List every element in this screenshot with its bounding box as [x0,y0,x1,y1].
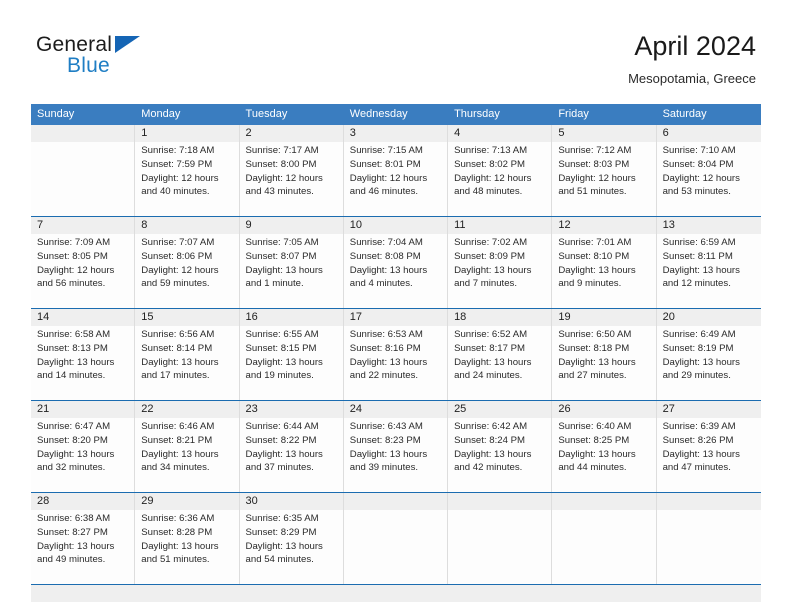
sunrise-time-text: Sunrise: 7:17 AM [246,144,338,158]
day-number-cell[interactable]: 22 [135,401,239,418]
day-cell[interactable]: Sunrise: 6:44 AMSunset: 8:22 PMDaylight:… [240,418,344,492]
day-cell-empty [344,510,448,584]
day-cell[interactable]: Sunrise: 6:39 AMSunset: 8:26 PMDaylight:… [657,418,761,492]
day-number-cell[interactable]: 20 [657,309,761,326]
day-number-cell[interactable]: 1 [135,125,239,142]
sunrise-time-text: Sunrise: 7:13 AM [454,144,546,158]
sunrise-time-text: Sunrise: 6:53 AM [350,328,442,342]
daylight-duration-line1: Daylight: 13 hours [350,264,442,278]
daylight-duration-line1: Daylight: 13 hours [37,356,129,370]
daylight-duration-line2: and 39 minutes. [350,461,442,475]
sunrise-time-text: Sunrise: 7:07 AM [141,236,233,250]
day-cell[interactable]: Sunrise: 6:40 AMSunset: 8:25 PMDaylight:… [552,418,656,492]
day-cell[interactable]: Sunrise: 6:47 AMSunset: 8:20 PMDaylight:… [31,418,135,492]
sunset-time-text: Sunset: 8:01 PM [350,158,442,172]
daylight-duration-line1: Daylight: 13 hours [37,448,129,462]
daylight-duration-line1: Daylight: 13 hours [454,264,546,278]
day-of-week-header-wednesday: Wednesday [344,104,448,125]
daylight-duration-line2: and 59 minutes. [141,277,233,291]
day-number-cell[interactable]: 6 [657,125,761,142]
day-of-week-header-thursday: Thursday [448,104,552,125]
day-cell[interactable]: Sunrise: 6:35 AMSunset: 8:29 PMDaylight:… [240,510,344,584]
page-header: General Blue April 2024 Mesopotamia, Gre… [0,0,792,104]
sunset-time-text: Sunset: 8:00 PM [246,158,338,172]
day-number-cell[interactable]: 13 [657,217,761,234]
day-of-week-header-tuesday: Tuesday [240,104,344,125]
day-number-cell[interactable]: 29 [135,493,239,510]
week-day-detail-band: Sunrise: 7:09 AMSunset: 8:05 PMDaylight:… [31,234,761,308]
daylight-duration-line1: Daylight: 12 hours [454,172,546,186]
daylight-duration-line1: Daylight: 13 hours [663,264,756,278]
daylight-duration-line1: Daylight: 12 hours [558,172,650,186]
daylight-duration-line2: and 42 minutes. [454,461,546,475]
day-cell[interactable]: Sunrise: 6:50 AMSunset: 8:18 PMDaylight:… [552,326,656,400]
brand-name-blue: Blue [67,54,110,78]
daylight-duration-line2: and 1 minute. [246,277,338,291]
day-number-cell[interactable]: 19 [552,309,656,326]
sunset-time-text: Sunset: 8:06 PM [141,250,233,264]
sunrise-time-text: Sunrise: 7:05 AM [246,236,338,250]
day-number-cell[interactable]: 11 [448,217,552,234]
daylight-duration-line1: Daylight: 13 hours [141,356,233,370]
calendar-grid: SundayMondayTuesdayWednesdayThursdayFrid… [31,104,761,602]
daylight-duration-line2: and 27 minutes. [558,369,650,383]
daylight-duration-line1: Daylight: 13 hours [350,448,442,462]
daylight-duration-line1: Daylight: 12 hours [141,264,233,278]
sunrise-time-text: Sunrise: 6:58 AM [37,328,129,342]
day-cell[interactable]: Sunrise: 6:58 AMSunset: 8:13 PMDaylight:… [31,326,135,400]
triangle-flag-icon [115,36,140,53]
sunrise-time-text: Sunrise: 6:52 AM [454,328,546,342]
sunset-time-text: Sunset: 8:09 PM [454,250,546,264]
sunset-time-text: Sunset: 8:22 PM [246,434,338,448]
sunset-time-text: Sunset: 8:07 PM [246,250,338,264]
day-number-cell[interactable]: 16 [240,309,344,326]
sunset-time-text: Sunset: 8:03 PM [558,158,650,172]
daylight-duration-line2: and 34 minutes. [141,461,233,475]
day-cell[interactable]: Sunrise: 6:49 AMSunset: 8:19 PMDaylight:… [657,326,761,400]
sunset-time-text: Sunset: 8:15 PM [246,342,338,356]
day-cell-empty [657,510,761,584]
day-number-cell[interactable]: 7 [31,217,135,234]
daylight-duration-line2: and 53 minutes. [663,185,756,199]
sunset-time-text: Sunset: 8:13 PM [37,342,129,356]
calendar-week-row: 78910111213Sunrise: 7:09 AMSunset: 8:05 … [31,216,761,308]
day-number-cell[interactable]: 30 [240,493,344,510]
day-cell[interactable]: Sunrise: 7:13 AMSunset: 8:02 PMDaylight:… [448,142,552,216]
sunset-time-text: Sunset: 8:10 PM [558,250,650,264]
sunrise-time-text: Sunrise: 6:44 AM [246,420,338,434]
sunset-time-text: Sunset: 8:27 PM [37,526,129,540]
daylight-duration-line2: and 37 minutes. [246,461,338,475]
day-of-week-header-sunday: Sunday [31,104,135,125]
sunrise-time-text: Sunrise: 7:02 AM [454,236,546,250]
daylight-duration-line1: Daylight: 13 hours [246,448,338,462]
daylight-duration-line1: Daylight: 13 hours [246,356,338,370]
day-of-week-header-friday: Friday [552,104,656,125]
daylight-duration-line2: and 54 minutes. [246,553,338,567]
day-number-cell[interactable]: 15 [135,309,239,326]
daylight-duration-line2: and 51 minutes. [558,185,650,199]
day-cell[interactable]: Sunrise: 7:07 AMSunset: 8:06 PMDaylight:… [135,234,239,308]
day-number-cell[interactable]: 21 [31,401,135,418]
sunset-time-text: Sunset: 7:59 PM [141,158,233,172]
daylight-duration-line1: Daylight: 13 hours [663,356,756,370]
calendar-weeks: 123456Sunrise: 7:18 AMSunset: 7:59 PMDay… [31,125,761,584]
sunrise-time-text: Sunrise: 7:12 AM [558,144,650,158]
week-day-detail-band: Sunrise: 6:47 AMSunset: 8:20 PMDaylight:… [31,418,761,492]
sunrise-time-text: Sunrise: 6:35 AM [246,512,338,526]
day-cell[interactable]: Sunrise: 7:17 AMSunset: 8:00 PMDaylight:… [240,142,344,216]
day-cell[interactable]: Sunrise: 7:02 AMSunset: 8:09 PMDaylight:… [448,234,552,308]
daylight-duration-line1: Daylight: 13 hours [246,540,338,554]
daylight-duration-line1: Daylight: 12 hours [246,172,338,186]
sunrise-time-text: Sunrise: 6:55 AM [246,328,338,342]
day-number-cell[interactable]: 18 [448,309,552,326]
sunset-time-text: Sunset: 8:26 PM [663,434,756,448]
calendar-week-row: 123456Sunrise: 7:18 AMSunset: 7:59 PMDay… [31,125,761,216]
daylight-duration-line1: Daylight: 13 hours [141,448,233,462]
daylight-duration-line2: and 48 minutes. [454,185,546,199]
day-number-empty [657,493,761,510]
week-day-number-band: 78910111213 [31,217,761,234]
day-number-cell[interactable]: 24 [344,401,448,418]
sunset-time-text: Sunset: 8:20 PM [37,434,129,448]
day-number-cell[interactable]: 23 [240,401,344,418]
day-number-cell[interactable]: 5 [552,125,656,142]
daylight-duration-line2: and 14 minutes. [37,369,129,383]
sunrise-time-text: Sunrise: 6:38 AM [37,512,129,526]
sunrise-time-text: Sunrise: 6:46 AM [141,420,233,434]
sunrise-time-text: Sunrise: 7:15 AM [350,144,442,158]
day-cell[interactable]: Sunrise: 7:09 AMSunset: 8:05 PMDaylight:… [31,234,135,308]
week-day-number-band: 21222324252627 [31,401,761,418]
day-cell[interactable]: Sunrise: 6:43 AMSunset: 8:23 PMDaylight:… [344,418,448,492]
day-cell[interactable]: Sunrise: 6:46 AMSunset: 8:21 PMDaylight:… [135,418,239,492]
week-day-number-band: 282930 [31,493,761,510]
daylight-duration-line2: and 56 minutes. [37,277,129,291]
daylight-duration-line1: Daylight: 12 hours [350,172,442,186]
daylight-duration-line2: and 17 minutes. [141,369,233,383]
sunrise-time-text: Sunrise: 6:49 AM [663,328,756,342]
sunset-time-text: Sunset: 8:05 PM [37,250,129,264]
day-cell[interactable]: Sunrise: 7:04 AMSunset: 8:08 PMDaylight:… [344,234,448,308]
sunset-time-text: Sunset: 8:14 PM [141,342,233,356]
daylight-duration-line2: and 47 minutes. [663,461,756,475]
sunset-time-text: Sunset: 8:23 PM [350,434,442,448]
daylight-duration-line2: and 19 minutes. [246,369,338,383]
sunset-time-text: Sunset: 8:25 PM [558,434,650,448]
day-cell[interactable]: Sunrise: 6:55 AMSunset: 8:15 PMDaylight:… [240,326,344,400]
daylight-duration-line1: Daylight: 12 hours [37,264,129,278]
day-cell[interactable]: Sunrise: 7:05 AMSunset: 8:07 PMDaylight:… [240,234,344,308]
sunset-time-text: Sunset: 8:04 PM [663,158,756,172]
page-subtitle-location: Mesopotamia, Greece [628,70,756,88]
day-cell[interactable]: Sunrise: 7:10 AMSunset: 8:04 PMDaylight:… [657,142,761,216]
sunrise-time-text: Sunrise: 6:39 AM [663,420,756,434]
calendar-page: General Blue April 2024 Mesopotamia, Gre… [0,0,792,612]
calendar-tail-band [31,585,761,602]
daylight-duration-line1: Daylight: 13 hours [350,356,442,370]
week-day-detail-band: Sunrise: 7:18 AMSunset: 7:59 PMDaylight:… [31,142,761,216]
sunrise-time-text: Sunrise: 7:10 AM [663,144,756,158]
day-number-cell[interactable]: 27 [657,401,761,418]
brand-logo[interactable]: General Blue [36,33,216,85]
sunset-time-text: Sunset: 8:24 PM [454,434,546,448]
day-cell-empty [448,510,552,584]
day-cell[interactable]: Sunrise: 6:38 AMSunset: 8:27 PMDaylight:… [31,510,135,584]
day-number-cell[interactable]: 25 [448,401,552,418]
sunrise-time-text: Sunrise: 7:09 AM [37,236,129,250]
daylight-duration-line2: and 49 minutes. [37,553,129,567]
sunset-time-text: Sunset: 8:28 PM [141,526,233,540]
sunset-time-text: Sunset: 8:17 PM [454,342,546,356]
daylight-duration-line2: and 44 minutes. [558,461,650,475]
daylight-duration-line1: Daylight: 13 hours [141,540,233,554]
daylight-duration-line1: Daylight: 13 hours [663,448,756,462]
daylight-duration-line2: and 46 minutes. [350,185,442,199]
sunrise-time-text: Sunrise: 6:50 AM [558,328,650,342]
sunset-time-text: Sunset: 8:08 PM [350,250,442,264]
daylight-duration-line2: and 9 minutes. [558,277,650,291]
day-cell[interactable]: Sunrise: 6:59 AMSunset: 8:11 PMDaylight:… [657,234,761,308]
daylight-duration-line2: and 29 minutes. [663,369,756,383]
sunset-time-text: Sunset: 8:21 PM [141,434,233,448]
sunset-time-text: Sunset: 8:02 PM [454,158,546,172]
sunrise-time-text: Sunrise: 6:40 AM [558,420,650,434]
sunset-time-text: Sunset: 8:18 PM [558,342,650,356]
week-day-detail-band: Sunrise: 6:38 AMSunset: 8:27 PMDaylight:… [31,510,761,584]
day-number-cell[interactable]: 3 [344,125,448,142]
day-cell[interactable]: Sunrise: 6:53 AMSunset: 8:16 PMDaylight:… [344,326,448,400]
daylight-duration-line2: and 51 minutes. [141,553,233,567]
daylight-duration-line1: Daylight: 13 hours [558,264,650,278]
sunrise-time-text: Sunrise: 6:36 AM [141,512,233,526]
day-number-cell[interactable]: 9 [240,217,344,234]
page-title: April 2024 [628,30,756,62]
daylight-duration-line2: and 4 minutes. [350,277,442,291]
daylight-duration-line1: Daylight: 13 hours [558,448,650,462]
sunrise-time-text: Sunrise: 7:18 AM [141,144,233,158]
day-number-cell[interactable]: 4 [448,125,552,142]
day-number-cell[interactable]: 10 [344,217,448,234]
daylight-duration-line1: Daylight: 13 hours [454,356,546,370]
calendar-week-row: 21222324252627Sunrise: 6:47 AMSunset: 8:… [31,400,761,492]
day-cell[interactable]: Sunrise: 6:36 AMSunset: 8:28 PMDaylight:… [135,510,239,584]
day-number-empty [448,493,552,510]
sunrise-time-text: Sunrise: 6:42 AM [454,420,546,434]
daylight-duration-line2: and 40 minutes. [141,185,233,199]
daylight-duration-line2: and 43 minutes. [246,185,338,199]
sunset-time-text: Sunset: 8:29 PM [246,526,338,540]
daylight-duration-line2: and 32 minutes. [37,461,129,475]
sunrise-time-text: Sunrise: 7:04 AM [350,236,442,250]
week-day-number-band: 14151617181920 [31,309,761,326]
day-cell[interactable]: Sunrise: 7:15 AMSunset: 8:01 PMDaylight:… [344,142,448,216]
day-cell[interactable]: Sunrise: 7:01 AMSunset: 8:10 PMDaylight:… [552,234,656,308]
day-cell[interactable]: Sunrise: 6:52 AMSunset: 8:17 PMDaylight:… [448,326,552,400]
day-cell[interactable]: Sunrise: 7:18 AMSunset: 7:59 PMDaylight:… [135,142,239,216]
daylight-duration-line1: Daylight: 13 hours [246,264,338,278]
day-of-week-header-saturday: Saturday [657,104,761,125]
sunrise-time-text: Sunrise: 6:43 AM [350,420,442,434]
daylight-duration-line2: and 7 minutes. [454,277,546,291]
day-number-cell[interactable]: 17 [344,309,448,326]
day-cell-empty [552,510,656,584]
day-number-empty [552,493,656,510]
day-cell[interactable]: Sunrise: 6:42 AMSunset: 8:24 PMDaylight:… [448,418,552,492]
daylight-duration-line1: Daylight: 12 hours [663,172,756,186]
day-number-cell[interactable]: 8 [135,217,239,234]
title-block: April 2024 Mesopotamia, Greece [628,30,756,88]
day-number-cell[interactable]: 28 [31,493,135,510]
week-day-number-band: 123456 [31,125,761,142]
day-of-week-header-monday: Monday [135,104,239,125]
daylight-duration-line2: and 12 minutes. [663,277,756,291]
calendar-week-row: 282930Sunrise: 6:38 AMSunset: 8:27 PMDay… [31,492,761,584]
daylight-duration-line1: Daylight: 12 hours [141,172,233,186]
day-number-empty [344,493,448,510]
sunrise-time-text: Sunrise: 7:01 AM [558,236,650,250]
daylight-duration-line2: and 24 minutes. [454,369,546,383]
week-day-detail-band: Sunrise: 6:58 AMSunset: 8:13 PMDaylight:… [31,326,761,400]
sunrise-time-text: Sunrise: 6:59 AM [663,236,756,250]
daylight-duration-line1: Daylight: 13 hours [37,540,129,554]
calendar-week-row: 14151617181920Sunrise: 6:58 AMSunset: 8:… [31,308,761,400]
sunrise-time-text: Sunrise: 6:47 AM [37,420,129,434]
day-number-cell[interactable]: 12 [552,217,656,234]
daylight-duration-line2: and 22 minutes. [350,369,442,383]
day-number-cell[interactable]: 26 [552,401,656,418]
day-cell[interactable]: Sunrise: 7:12 AMSunset: 8:03 PMDaylight:… [552,142,656,216]
daylight-duration-line1: Daylight: 13 hours [558,356,650,370]
day-number-empty [31,125,135,142]
day-of-week-header-row: SundayMondayTuesdayWednesdayThursdayFrid… [31,104,761,125]
day-cell-empty [31,142,135,216]
day-number-cell[interactable]: 2 [240,125,344,142]
daylight-duration-line1: Daylight: 13 hours [454,448,546,462]
sunrise-time-text: Sunrise: 6:56 AM [141,328,233,342]
sunset-time-text: Sunset: 8:16 PM [350,342,442,356]
day-number-cell[interactable]: 14 [31,309,135,326]
sunset-time-text: Sunset: 8:19 PM [663,342,756,356]
day-cell[interactable]: Sunrise: 6:56 AMSunset: 8:14 PMDaylight:… [135,326,239,400]
sunset-time-text: Sunset: 8:11 PM [663,250,756,264]
